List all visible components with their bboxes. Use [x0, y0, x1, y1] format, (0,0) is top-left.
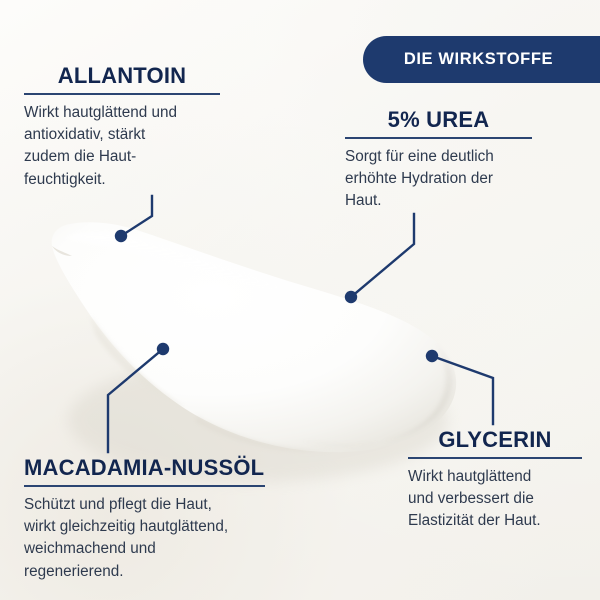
- callout-urea-title: 5% UREA: [345, 108, 532, 132]
- callout-glycerin-title: GLYCERIN: [408, 428, 582, 452]
- callout-glycerin-rule: [408, 457, 582, 459]
- header-badge: DIE WIRKSTOFFE: [363, 36, 600, 83]
- callout-urea-rule: [345, 137, 532, 139]
- callout-urea-body: Sorgt für eine deutlich erhöhte Hydratio…: [345, 146, 532, 213]
- callout-glycerin-body: Wirkt hautglättend und verbessert die El…: [408, 466, 582, 533]
- callout-macadamia: MACADAMIA-NUSSÖL Schützt und pflegt die …: [24, 456, 265, 583]
- callout-allantoin-body: Wirkt hautglättend und antioxidativ, stä…: [24, 102, 220, 191]
- callout-macadamia-title: MACADAMIA-NUSSÖL: [24, 456, 265, 480]
- callout-allantoin: ALLANTOIN Wirkt hautglättend und antioxi…: [24, 64, 220, 191]
- header-badge-label: DIE WIRKSTOFFE: [404, 50, 553, 69]
- callout-glycerin: GLYCERIN Wirkt hautglättend und verbesse…: [408, 428, 582, 533]
- infographic-canvas: DIE WIRKSTOFFE ALLANTOIN Wirkt hautglätt…: [0, 0, 600, 600]
- callout-allantoin-rule: [24, 93, 220, 95]
- callout-allantoin-title: ALLANTOIN: [24, 64, 220, 88]
- callout-macadamia-body: Schützt und pflegt die Haut, wirkt gleic…: [24, 494, 265, 583]
- callout-macadamia-rule: [24, 485, 265, 487]
- callout-urea: 5% UREA Sorgt für eine deutlich erhöhte …: [345, 108, 532, 213]
